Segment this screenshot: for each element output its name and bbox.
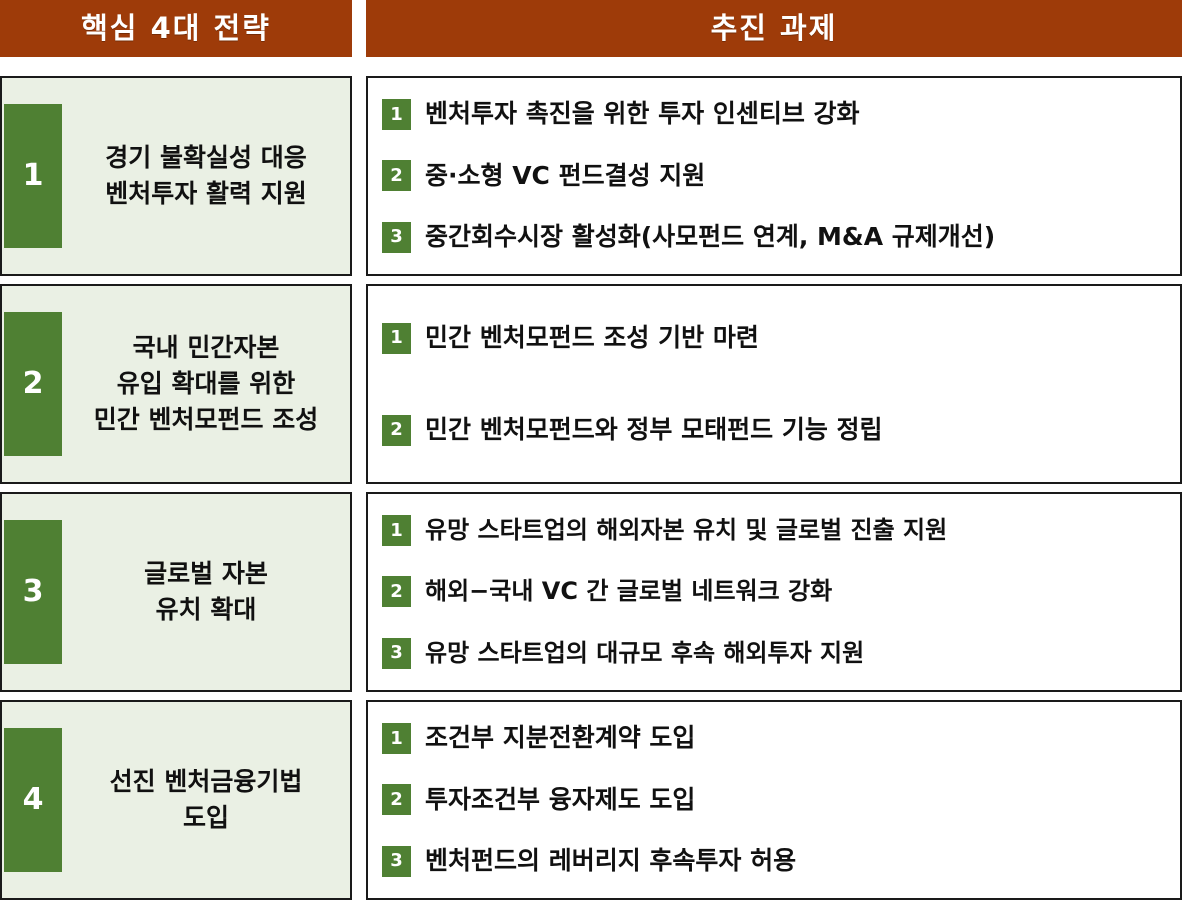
header-title-task: 추진 과제 <box>711 14 838 43</box>
task-number-badge: 1 <box>382 723 411 754</box>
task-card-3: 1 유망 스타트업의 해외자본 유치 및 글로벌 진출 지원 2 해외−국내 V… <box>366 492 1182 692</box>
strategy-label-4: 선진 벤처금융기법 도입 <box>62 764 350 837</box>
task-text: 벤처펀드의 레버리지 후속투자 허용 <box>425 847 796 876</box>
task-list-1: 1 벤처투자 촉진을 위한 투자 인센티브 강화 2 중·소형 VC 펀드결성 … <box>382 84 1170 268</box>
strategy-card-3[interactable]: 3 글로벌 자본 유치 확대 <box>0 492 352 692</box>
task-item[interactable]: 1 민간 벤처모펀드 조성 기반 마련 <box>382 323 1170 354</box>
task-number-badge: 1 <box>382 515 411 546</box>
task-number-badge: 3 <box>382 846 411 877</box>
task-card-2: 1 민간 벤처모펀드 조성 기반 마련 2 민간 벤처모펀드와 정부 모태펀드 … <box>366 284 1182 484</box>
task-text: 민간 벤처모펀드와 정부 모태펀드 기능 정립 <box>425 416 883 445</box>
strategy-card-4[interactable]: 4 선진 벤처금융기법 도입 <box>0 700 352 900</box>
strategy-index-number: 1 <box>23 161 44 191</box>
strategy-row: 4 선진 벤처금융기법 도입 1 조건부 지분전환계약 도입 2 투자조건부 융… <box>0 700 1182 900</box>
task-number-badge: 2 <box>382 160 411 191</box>
task-number-badge: 2 <box>382 784 411 815</box>
task-item[interactable]: 1 유망 스타트업의 해외자본 유치 및 글로벌 진출 지원 <box>382 515 1170 546</box>
task-list-4: 1 조건부 지분전환계약 도입 2 투자조건부 융자제도 도입 3 벤처펀드의 … <box>382 708 1170 892</box>
task-text: 유망 스타트업의 해외자본 유치 및 글로벌 진출 지원 <box>425 517 947 545</box>
strategy-label-2: 국내 민간자본 유입 확대를 위한 민간 벤처모펀드 조성 <box>62 330 350 439</box>
task-number-badge: 1 <box>382 99 411 130</box>
task-card-1: 1 벤처투자 촉진을 위한 투자 인센티브 강화 2 중·소형 VC 펀드결성 … <box>366 76 1182 276</box>
header-title-strategy: 핵심 4대 전략 <box>81 14 271 43</box>
task-list-3: 1 유망 스타트업의 해외자본 유치 및 글로벌 진출 지원 2 해외−국내 V… <box>382 500 1170 684</box>
table-header-row: 핵심 4대 전략 추진 과제 <box>0 0 1182 57</box>
strategy-index-number: 4 <box>23 785 44 815</box>
task-text: 중·소형 VC 펀드결성 지원 <box>425 162 705 191</box>
task-item[interactable]: 1 조건부 지분전환계약 도입 <box>382 723 1170 754</box>
task-item[interactable]: 2 민간 벤처모펀드와 정부 모태펀드 기능 정립 <box>382 415 1170 446</box>
strategy-index-number: 2 <box>23 369 44 399</box>
task-text: 투자조건부 융자제도 도입 <box>425 786 695 815</box>
task-item[interactable]: 2 투자조건부 융자제도 도입 <box>382 784 1170 815</box>
header-cell-strategy: 핵심 4대 전략 <box>0 0 352 57</box>
strategy-row: 3 글로벌 자본 유치 확대 1 유망 스타트업의 해외자본 유치 및 글로벌 … <box>0 492 1182 692</box>
task-text: 중간회수시장 활성화(사모펀드 연계, M&A 규제개선) <box>425 223 995 252</box>
task-text: 조건부 지분전환계약 도입 <box>425 724 695 753</box>
strategy-label-3: 글로벌 자본 유치 확대 <box>62 556 350 629</box>
strategy-row: 1 경기 불확실성 대응 벤처투자 활력 지원 1 벤처투자 촉진을 위한 투자… <box>0 76 1182 276</box>
task-item[interactable]: 3 벤처펀드의 레버리지 후속투자 허용 <box>382 846 1170 877</box>
task-number-badge: 3 <box>382 222 411 253</box>
task-text: 해외−국내 VC 간 글로벌 네트워크 강화 <box>425 578 832 606</box>
task-list-2: 1 민간 벤처모펀드 조성 기반 마련 2 민간 벤처모펀드와 정부 모태펀드 … <box>382 292 1170 476</box>
strategy-rows: 1 경기 불확실성 대응 벤처투자 활력 지원 1 벤처투자 촉진을 위한 투자… <box>0 76 1182 900</box>
task-number-badge: 2 <box>382 576 411 607</box>
task-item[interactable]: 2 해외−국내 VC 간 글로벌 네트워크 강화 <box>382 576 1170 607</box>
header-cell-task: 추진 과제 <box>366 0 1182 57</box>
strategy-label-1: 경기 불확실성 대응 벤처투자 활력 지원 <box>62 140 350 213</box>
strategy-index-block-3: 3 <box>4 520 62 664</box>
task-text: 민간 벤처모펀드 조성 기반 마련 <box>425 324 759 353</box>
strategy-card-2[interactable]: 2 국내 민간자본 유입 확대를 위한 민간 벤처모펀드 조성 <box>0 284 352 484</box>
task-item[interactable]: 3 유망 스타트업의 대규모 후속 해외투자 지원 <box>382 638 1170 669</box>
task-number-badge: 2 <box>382 415 411 446</box>
strategy-card-1[interactable]: 1 경기 불확실성 대응 벤처투자 활력 지원 <box>0 76 352 276</box>
task-card-4: 1 조건부 지분전환계약 도입 2 투자조건부 융자제도 도입 3 벤처펀드의 … <box>366 700 1182 900</box>
strategy-row: 2 국내 민간자본 유입 확대를 위한 민간 벤처모펀드 조성 1 민간 벤처모… <box>0 284 1182 484</box>
task-item[interactable]: 3 중간회수시장 활성화(사모펀드 연계, M&A 규제개선) <box>382 222 1170 253</box>
task-item[interactable]: 2 중·소형 VC 펀드결성 지원 <box>382 160 1170 191</box>
strategy-task-table: 핵심 4대 전략 추진 과제 1 경기 불확실성 대응 벤처투자 활력 지원 1… <box>0 0 1182 910</box>
task-text: 유망 스타트업의 대규모 후속 해외투자 지원 <box>425 640 864 668</box>
strategy-index-block-4: 4 <box>4 728 62 872</box>
strategy-index-number: 3 <box>23 577 44 607</box>
task-number-badge: 3 <box>382 638 411 669</box>
task-text: 벤처투자 촉진을 위한 투자 인센티브 강화 <box>425 100 860 129</box>
task-item[interactable]: 1 벤처투자 촉진을 위한 투자 인센티브 강화 <box>382 99 1170 130</box>
task-number-badge: 1 <box>382 323 411 354</box>
strategy-index-block-2: 2 <box>4 312 62 456</box>
strategy-index-block-1: 1 <box>4 104 62 248</box>
